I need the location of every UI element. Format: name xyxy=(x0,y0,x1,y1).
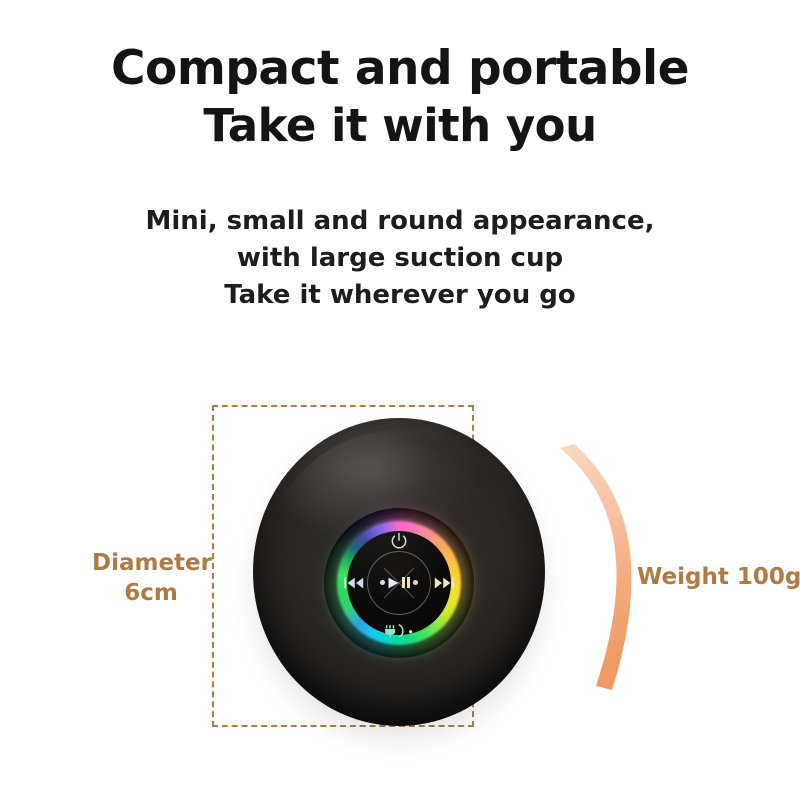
diameter-label-text: Diameter xyxy=(92,548,210,578)
previous-track-icon[interactable] xyxy=(344,575,364,590)
subtitle-block: Mini, small and round appearance, with l… xyxy=(0,203,800,314)
weight-arc-icon xyxy=(552,442,648,692)
weight-label: Weight 100g xyxy=(637,562,800,592)
headline-line-1: Compact and portable xyxy=(0,40,800,97)
diameter-label-value: 6cm xyxy=(92,578,210,608)
status-dot-left xyxy=(380,580,385,585)
product-stage: Diameter 6cm Weight 100g xyxy=(0,380,800,780)
headline-line-2: Take it with you xyxy=(0,97,800,154)
subtitle-line-2: with large suction cup xyxy=(0,240,800,277)
subtitle-line-3: Take it wherever you go xyxy=(0,277,800,314)
control-panel-well xyxy=(324,508,474,658)
power-icon[interactable] xyxy=(389,531,409,551)
headline-block: Compact and portable Take it with you xyxy=(0,40,800,154)
diameter-label: Diameter 6cm xyxy=(92,548,210,608)
play-pause-icon[interactable] xyxy=(380,577,418,589)
call-answer-icon[interactable] xyxy=(382,623,416,639)
subtitle-line-1: Mini, small and round appearance, xyxy=(0,203,800,240)
status-dot-right xyxy=(413,580,418,585)
pause-bars-icon xyxy=(402,577,410,588)
next-track-icon[interactable] xyxy=(434,575,454,590)
speaker-product-image xyxy=(253,418,545,726)
play-triangle-icon xyxy=(388,577,399,589)
